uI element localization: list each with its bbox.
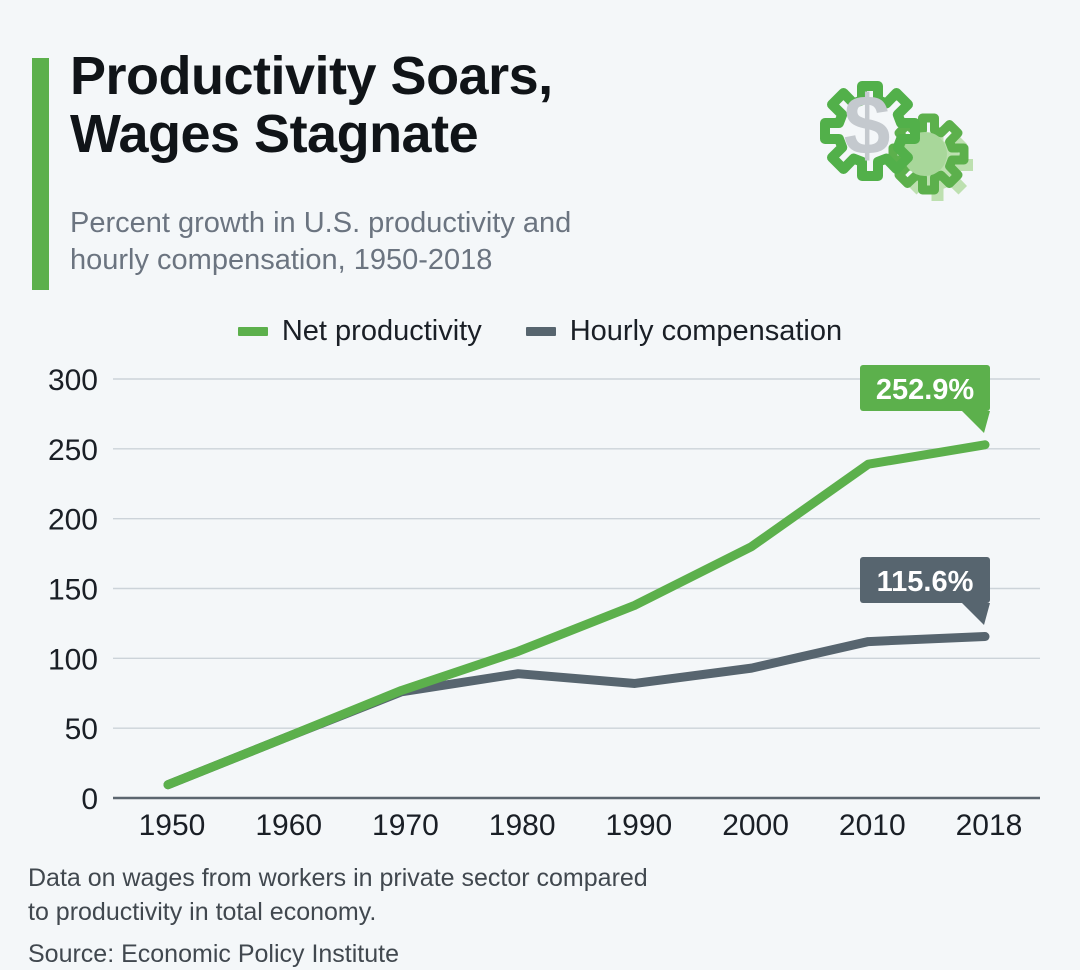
subtitle-line-1: Percent growth in U.S. productivity and xyxy=(70,207,571,239)
chart-callout-layer: 252.9%115.6% xyxy=(860,365,990,625)
legend-item-hourly-compensation[interactable]: Hourly compensation xyxy=(526,315,842,348)
y-axis-tick-label: 100 xyxy=(48,643,98,676)
y-axis-tick-label: 0 xyxy=(81,783,98,816)
legend-label-hourly-compensation: Hourly compensation xyxy=(570,315,842,348)
y-axis-tick-label: 50 xyxy=(65,713,98,746)
x-axis-labels: 19501960197019801990200020102018 xyxy=(139,809,1023,840)
x-axis-tick-label: 2000 xyxy=(722,809,789,840)
footer: Data on wages from workers in private se… xyxy=(28,862,928,969)
dollar-sign-icon: $ xyxy=(844,78,891,172)
x-axis-tick-label: 2010 xyxy=(839,809,906,840)
callout-tail xyxy=(962,411,990,433)
x-axis-tick-label: 1990 xyxy=(605,809,672,840)
header: Productivity Soars, Wages Stagnate Perce… xyxy=(0,0,1080,300)
legend-swatch-hourly-compensation xyxy=(526,327,556,336)
y-axis-tick-label: 250 xyxy=(48,434,98,467)
x-axis-tick-label: 1970 xyxy=(372,809,439,840)
title-line-1: Productivity Soars, xyxy=(70,46,553,106)
chart-series-layer xyxy=(168,445,985,785)
callout-tail xyxy=(962,603,990,625)
chart-legend: Net productivity Hourly compensation xyxy=(0,315,1080,348)
page-title: Productivity Soars, Wages Stagnate xyxy=(70,48,770,164)
accent-bar xyxy=(32,58,49,290)
x-axis-tick-label: 1980 xyxy=(489,809,556,840)
legend-item-net-productivity[interactable]: Net productivity xyxy=(238,315,482,348)
dollar-gears-icon: $ xyxy=(786,58,1026,263)
y-axis-labels: 050100150200250300 xyxy=(48,364,98,816)
y-axis-tick-label: 200 xyxy=(48,504,98,537)
page-subtitle: Percent growth in U.S. productivity and … xyxy=(70,205,760,279)
svg-text:$: $ xyxy=(844,78,891,172)
legend-label-net-productivity: Net productivity xyxy=(282,315,482,348)
callout-value: 115.6% xyxy=(877,566,974,598)
footnote-line-2: to productivity in total economy. xyxy=(28,898,376,926)
net-productivity-end-label: 252.9% xyxy=(860,365,990,433)
line-chart: 050100150200250300 195019601970198019902… xyxy=(0,360,1080,840)
series-line-net-productivity xyxy=(168,445,985,785)
chart-footnote: Data on wages from workers in private se… xyxy=(28,862,928,930)
x-axis-tick-label: 1960 xyxy=(255,809,322,840)
x-axis-tick-label: 2018 xyxy=(956,809,1023,840)
y-axis-tick-label: 150 xyxy=(48,574,98,607)
title-line-2: Wages Stagnate xyxy=(70,104,478,164)
legend-swatch-net-productivity xyxy=(238,327,268,336)
hourly-compensation-end-label: 115.6% xyxy=(860,557,990,625)
callout-value: 252.9% xyxy=(876,374,975,406)
x-axis-tick-label: 1950 xyxy=(139,809,206,840)
y-axis-tick-label: 300 xyxy=(48,364,98,397)
chart-source: Source: Economic Policy Institute xyxy=(28,940,928,969)
footnote-line-1: Data on wages from workers in private se… xyxy=(28,864,648,892)
subtitle-line-2: hourly compensation, 1950-2018 xyxy=(70,244,492,276)
